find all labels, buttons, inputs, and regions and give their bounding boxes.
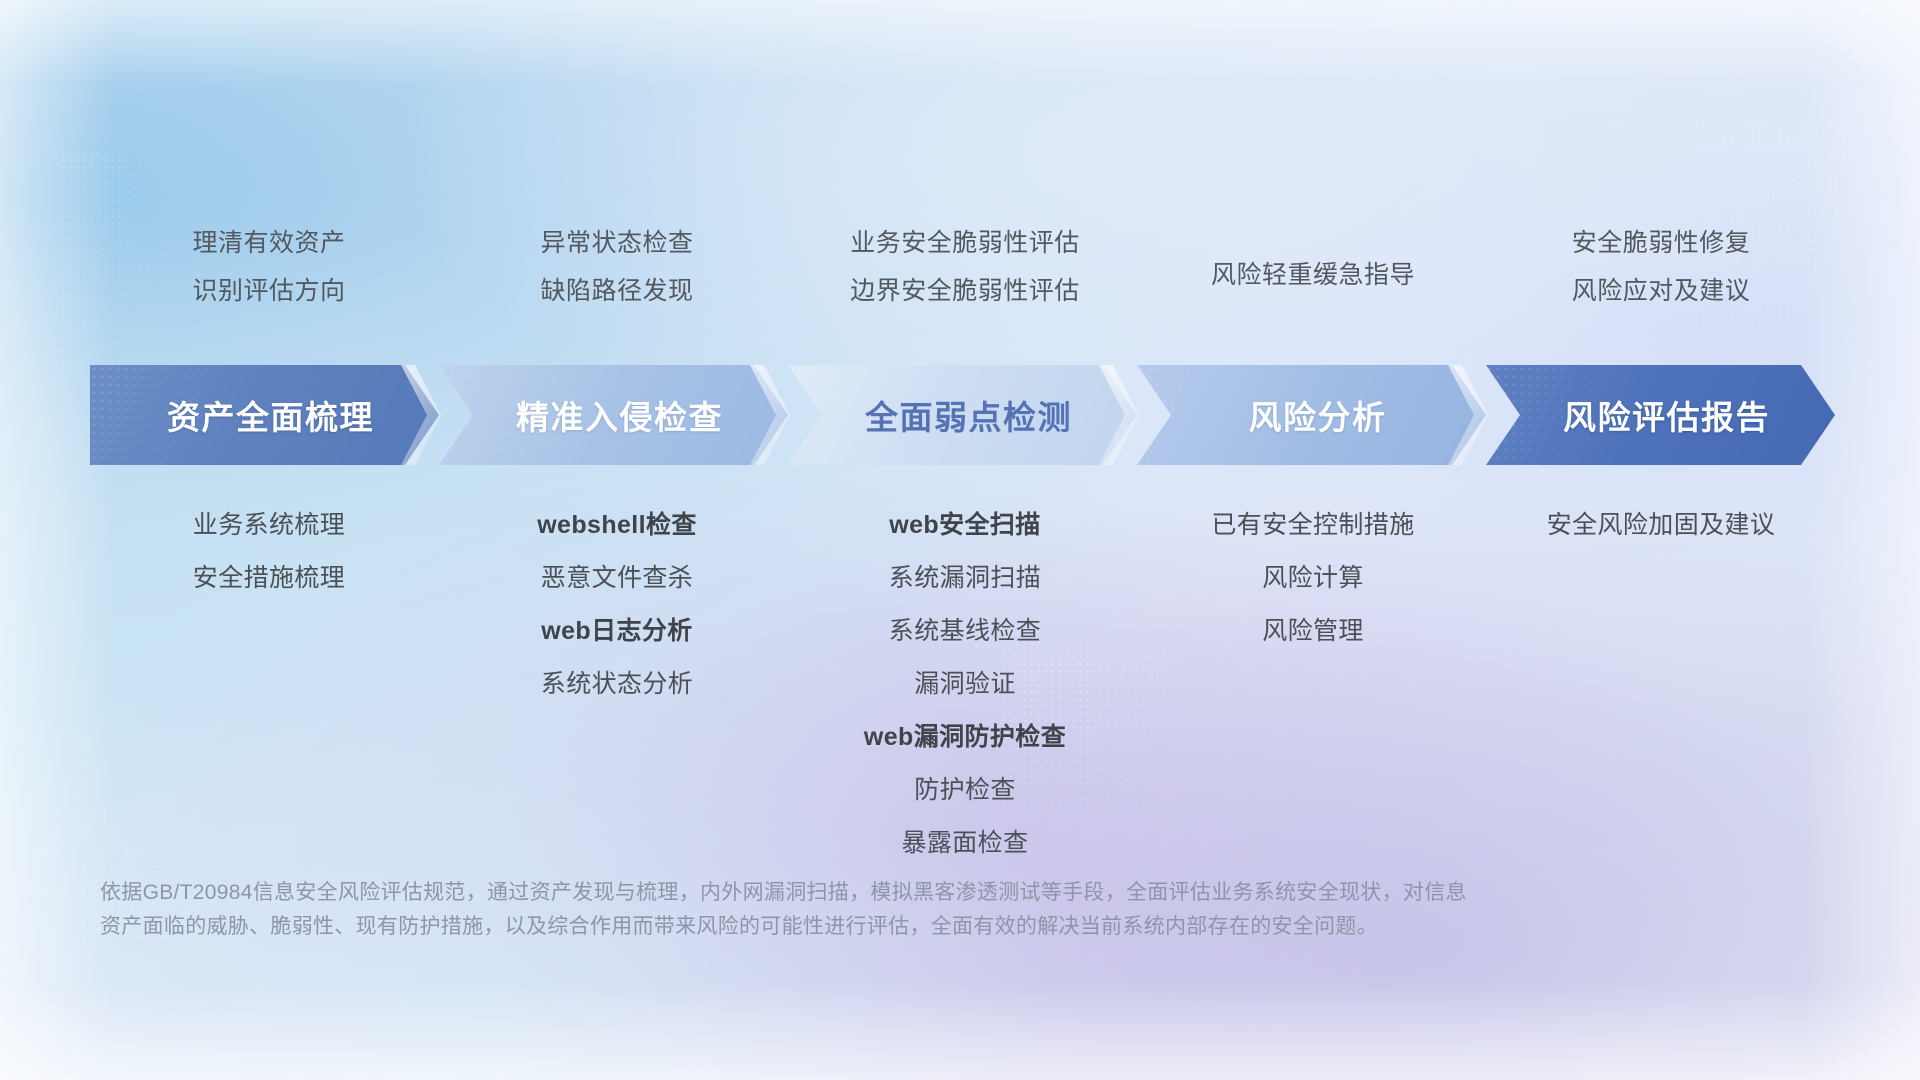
process-stage-label: 风险评估报告 (1563, 391, 1770, 439)
stage-5-top-list: 安全脆弱性修复 风险应对及建议 (1487, 228, 1835, 306)
process-stage-label: 全面弱点检测 (865, 391, 1072, 439)
process-stage-arrow-3[interactable]: 全面弱点检测 (788, 365, 1137, 465)
slide-canvas: 理清有效资产 识别评估方向 业务系统梳理 安全措施梳理 异常状态检查 缺陷路径发… (0, 0, 1920, 1080)
stage-1-bottom-list: 业务系统梳理 安全措施梳理 (95, 510, 443, 593)
stage-5-bottom-list: 安全风险加固及建议 (1487, 510, 1835, 540)
stage-3-bottom-item: 漏洞验证 (791, 669, 1139, 699)
process-stage-label: 精准入侵检查 (516, 391, 723, 439)
process-stage-label: 资产全面梳理 (167, 391, 374, 439)
stage-2-top-list: 异常状态检查 缺陷路径发现 (443, 228, 791, 306)
stage-2-bottom-item: 系统状态分析 (443, 669, 791, 699)
stage-1-top-item: 理清有效资产 (95, 228, 443, 258)
stage-4-bottom-item: 风险计算 (1139, 563, 1487, 593)
stage-3-bottom-item: web漏洞防护检查 (791, 722, 1139, 752)
stage-3-bottom-item: 系统基线检查 (791, 616, 1139, 646)
process-stage-arrow-1[interactable]: 资产全面梳理 (90, 365, 439, 465)
stage-1-top-item: 识别评估方向 (95, 276, 443, 306)
stage-1-top-list: 理清有效资产 识别评估方向 (95, 228, 443, 306)
stage-4-bottom-item: 风险管理 (1139, 616, 1487, 646)
stage-3-top-item: 边界安全脆弱性评估 (791, 276, 1139, 306)
stage-2-top-item: 异常状态检查 (443, 228, 791, 258)
stage-1-bottom-item: 安全措施梳理 (95, 563, 443, 593)
stage-4-top-item: 风险轻重缓急指导 (1139, 260, 1487, 290)
stage-4-bottom-list: 已有安全控制措施 风险计算 风险管理 (1139, 510, 1487, 646)
process-stage-arrow-2[interactable]: 精准入侵检查 (439, 365, 788, 465)
footer-description: 依据GB/T20984信息安全风险评估规范，通过资产发现与梳理，内外网漏洞扫描，… (100, 876, 1660, 944)
footer-line: 资产面临的威胁、脆弱性、现有防护措施，以及综合作用而带来风险的可能性进行评估，全… (100, 910, 1660, 944)
process-arrow-banner: 资产全面梳理 精准入侵检查 全面弱点检测 风险分析 风险评估报告 (90, 365, 1835, 465)
stage-2-bottom-item: webshell检查 (443, 510, 791, 540)
stage-3-top-list: 业务安全脆弱性评估 边界安全脆弱性评估 (791, 228, 1139, 306)
process-stage-arrow-5[interactable]: 风险评估报告 (1486, 365, 1835, 465)
stage-3-bottom-item: 暴露面检查 (791, 828, 1139, 858)
stage-3-top-item: 业务安全脆弱性评估 (791, 228, 1139, 258)
stage-2-top-item: 缺陷路径发现 (443, 276, 791, 306)
process-stage-arrow-4[interactable]: 风险分析 (1137, 365, 1486, 465)
stage-2-bottom-list: webshell检查 恶意文件查杀 web日志分析 系统状态分析 (443, 510, 791, 699)
stage-4-bottom-item: 已有安全控制措施 (1139, 510, 1487, 540)
stage-2-bottom-item: 恶意文件查杀 (443, 563, 791, 593)
stage-3-bottom-item: 系统漏洞扫描 (791, 563, 1139, 593)
stage-3-bottom-item: 防护检查 (791, 775, 1139, 805)
stage-5-top-item: 风险应对及建议 (1487, 276, 1835, 306)
stage-3-bottom-list: web安全扫描 系统漏洞扫描 系统基线检查 漏洞验证 web漏洞防护检查 防护检… (791, 510, 1139, 858)
stage-4-top-list: 风险轻重缓急指导 (1139, 260, 1487, 290)
stage-1-bottom-item: 业务系统梳理 (95, 510, 443, 540)
stage-5-top-item: 安全脆弱性修复 (1487, 228, 1835, 258)
process-stage-label: 风险分析 (1249, 391, 1387, 439)
stage-2-bottom-item: web日志分析 (443, 616, 791, 646)
stage-5-bottom-item: 安全风险加固及建议 (1487, 510, 1835, 540)
footer-line: 依据GB/T20984信息安全风险评估规范，通过资产发现与梳理，内外网漏洞扫描，… (100, 876, 1660, 910)
stage-3-bottom-item: web安全扫描 (791, 510, 1139, 540)
